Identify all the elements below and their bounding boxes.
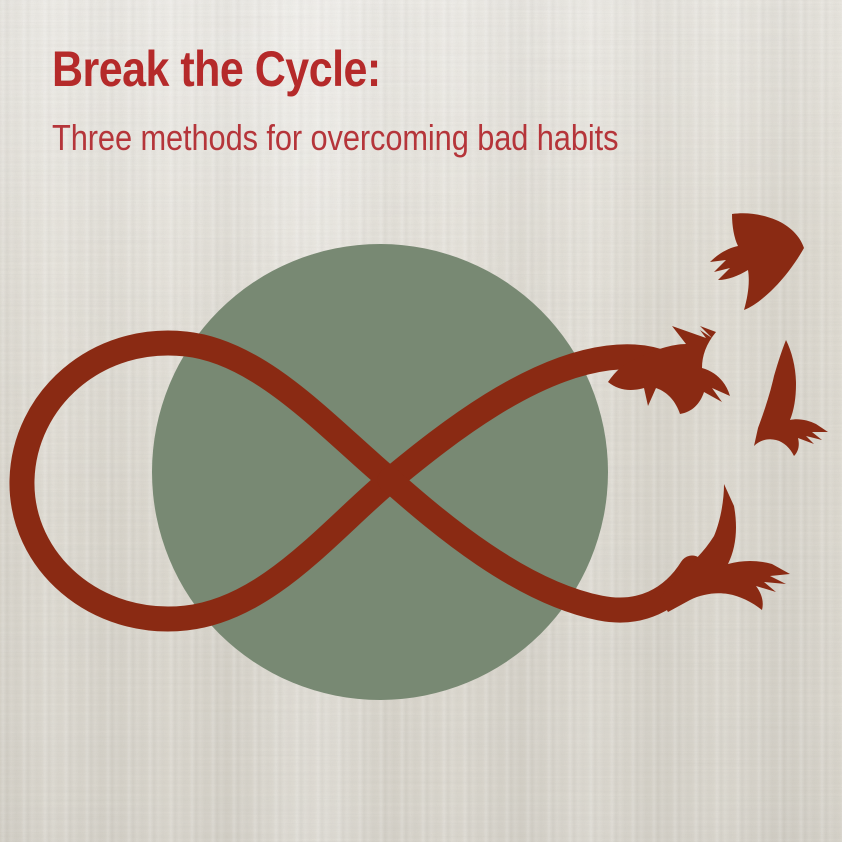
- bird-top-right: [710, 213, 804, 310]
- headline-block: Break the Cycle: Three methods for overc…: [52, 44, 792, 156]
- page-subtitle: Three methods for overcoming bad habits: [52, 94, 685, 156]
- poster-canvas: Break the Cycle: Three methods for overc…: [0, 0, 842, 842]
- bird-middle-right: [754, 340, 828, 456]
- page-title: Break the Cycle:: [52, 44, 688, 94]
- bird-from-upper-tail: [608, 326, 730, 414]
- bird-from-lower-tail: [660, 484, 790, 612]
